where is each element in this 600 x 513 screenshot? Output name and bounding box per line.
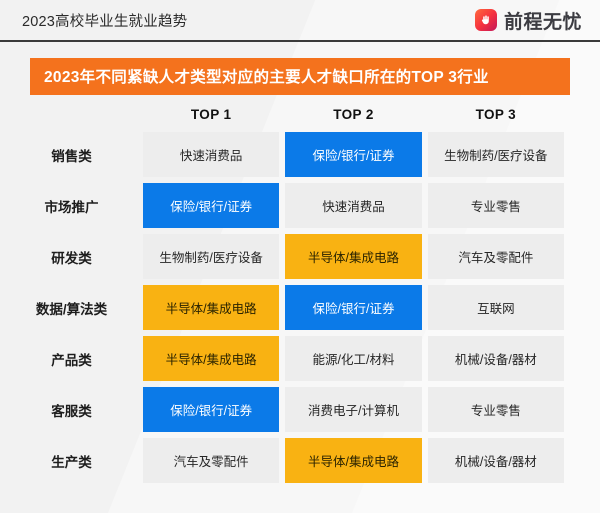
table-row: 客服类保险/银行/证券消费电子/计算机专业零售 (6, 387, 564, 432)
cell-r0-top3: 生物制药/医疗设备 (428, 132, 564, 177)
brand-name: 前程无忧 (504, 7, 582, 34)
table-row: 市场推广保险/银行/证券快速消费品专业零售 (6, 183, 564, 228)
cell-r5-top2: 消费电子/计算机 (285, 387, 421, 432)
row-label-3: 数据/算法类 (6, 285, 137, 330)
cell-r3-top1: 半导体/集成电路 (143, 285, 279, 330)
cell-r4-top2: 能源/化工/材料 (285, 336, 421, 381)
cell-r2-top2: 半导体/集成电路 (285, 234, 421, 279)
cell-r4-top1: 半导体/集成电路 (143, 336, 279, 381)
row-label-6: 生产类 (6, 438, 137, 483)
top3-table: TOP 1 TOP 2 TOP 3 销售类快速消费品保险/银行/证券生物制药/医… (0, 95, 570, 489)
cell-r0-top2: 保险/银行/证券 (285, 132, 421, 177)
cell-r3-top3: 互联网 (428, 285, 564, 330)
cell-r2-top1: 生物制药/医疗设备 (143, 234, 279, 279)
cell-r5-top3: 专业零售 (428, 387, 564, 432)
row-label-2: 研发类 (6, 234, 137, 279)
brand-logo: 前程无忧 (475, 7, 582, 34)
table-row: 生产类汽车及零配件半导体/集成电路机械/设备/器材 (6, 438, 564, 483)
table-head: TOP 1 TOP 2 TOP 3 (6, 101, 564, 126)
table-row: 销售类快速消费品保险/银行/证券生物制药/医疗设备 (6, 132, 564, 177)
cell-r3-top2: 保险/银行/证券 (285, 285, 421, 330)
banner-title: 2023年不同紧缺人才类型对应的主要人才缺口所在的TOP 3行业 (30, 58, 570, 95)
table-body: 销售类快速消费品保险/银行/证券生物制药/医疗设备市场推广保险/银行/证券快速消… (6, 132, 564, 483)
cell-r6-top1: 汽车及零配件 (143, 438, 279, 483)
cell-r6-top3: 机械/设备/器材 (428, 438, 564, 483)
cell-r5-top1: 保险/银行/证券 (143, 387, 279, 432)
row-label-1: 市场推广 (6, 183, 137, 228)
table-row: 产品类半导体/集成电路能源/化工/材料机械/设备/器材 (6, 336, 564, 381)
page-title: 2023高校毕业生就业趋势 (22, 10, 187, 31)
banner-container: 2023年不同紧缺人才类型对应的主要人才缺口所在的TOP 3行业 (0, 42, 600, 95)
cell-r4-top3: 机械/设备/器材 (428, 336, 564, 381)
header-row: TOP 1 TOP 2 TOP 3 (6, 101, 564, 126)
cell-r0-top1: 快速消费品 (143, 132, 279, 177)
column-header-top1: TOP 1 (143, 101, 279, 126)
cell-r1-top3: 专业零售 (428, 183, 564, 228)
row-label-4: 产品类 (6, 336, 137, 381)
hand-logo-icon (475, 9, 497, 31)
page-header: 2023高校毕业生就业趋势 前程无忧 (0, 0, 600, 42)
cell-r1-top1: 保险/银行/证券 (143, 183, 279, 228)
row-label-5: 客服类 (6, 387, 137, 432)
industry-matrix: TOP 1 TOP 2 TOP 3 销售类快速消费品保险/银行/证券生物制药/医… (0, 95, 600, 489)
corner-cell (6, 101, 137, 126)
table-row: 数据/算法类半导体/集成电路保险/银行/证券互联网 (6, 285, 564, 330)
cell-r6-top2: 半导体/集成电路 (285, 438, 421, 483)
cell-r1-top2: 快速消费品 (285, 183, 421, 228)
column-header-top2: TOP 2 (285, 101, 421, 126)
table-row: 研发类生物制药/医疗设备半导体/集成电路汽车及零配件 (6, 234, 564, 279)
column-header-top3: TOP 3 (428, 101, 564, 126)
row-label-0: 销售类 (6, 132, 137, 177)
cell-r2-top3: 汽车及零配件 (428, 234, 564, 279)
